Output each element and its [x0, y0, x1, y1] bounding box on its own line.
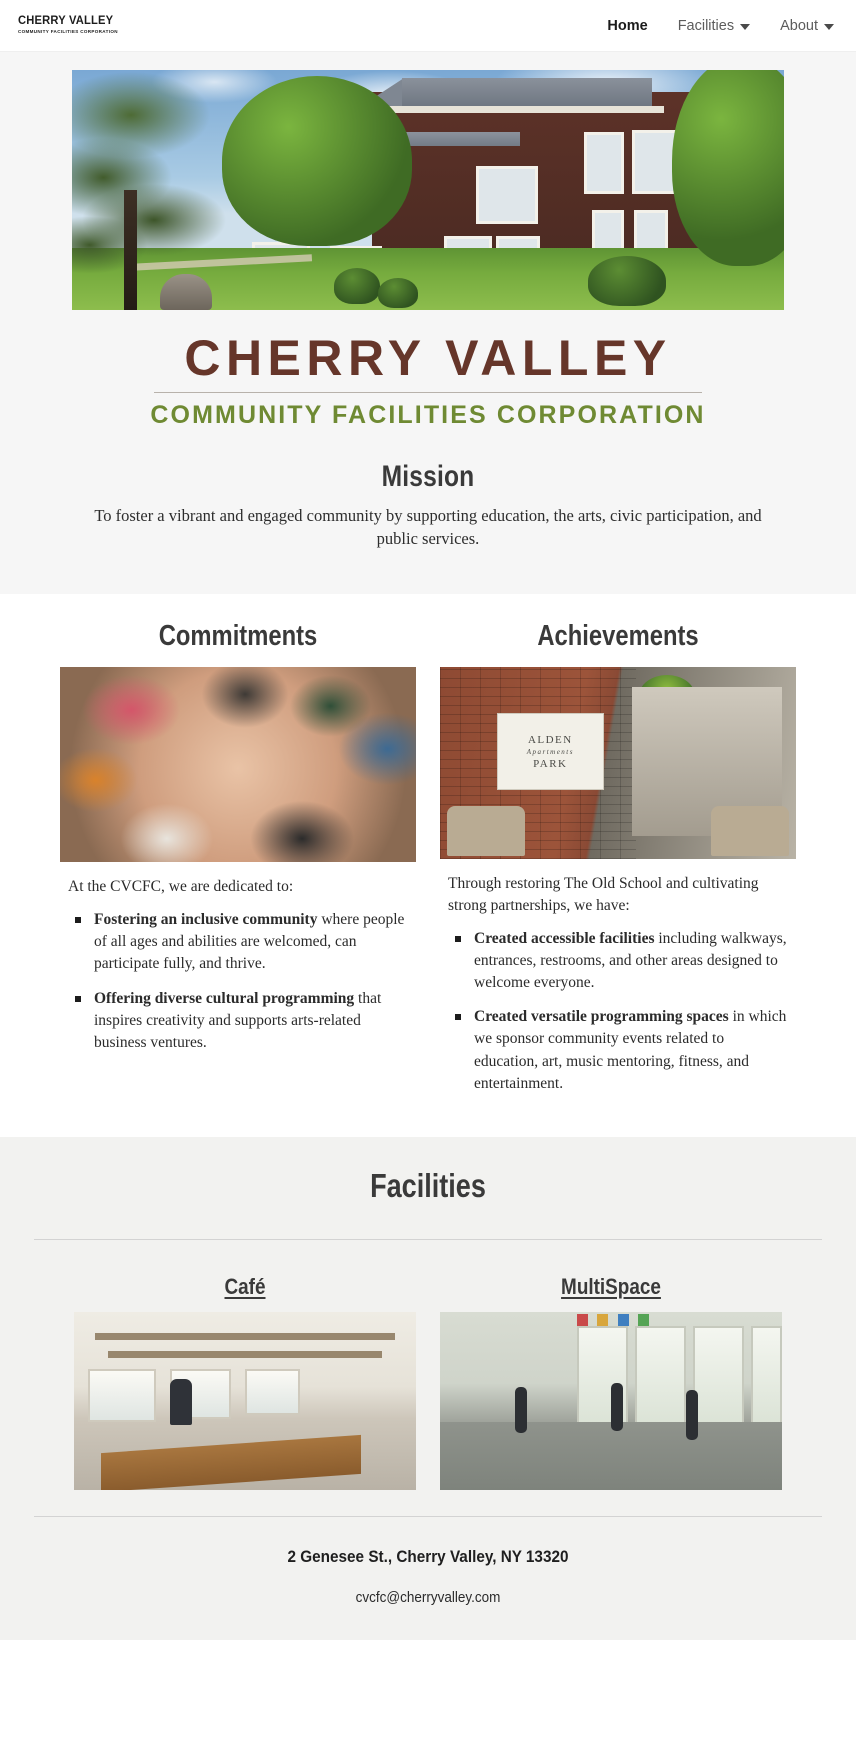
facilities-section: Facilities Café Mult	[0, 1137, 856, 1640]
list-item: Created versatile programming spaces in …	[470, 1006, 790, 1095]
primary-navigation: Home Facilities About	[607, 18, 834, 34]
list-item-bold: Fostering an inclusive community	[94, 911, 317, 928]
ceiling-beam	[95, 1333, 396, 1340]
hero-building-eave	[368, 106, 664, 113]
cafe-long-table	[101, 1434, 361, 1489]
achievements-intro: Through restoring The Old School and cul…	[448, 873, 790, 916]
site-logo[interactable]: CHERRY VALLEY COMMUNITY FACILITIES CORPO…	[18, 16, 119, 35]
pennant-flag	[618, 1314, 629, 1326]
mission-heading: Mission	[77, 460, 779, 494]
list-item: Fostering an inclusive community where p…	[90, 909, 410, 975]
commitments-heading: Commitments	[92, 620, 384, 653]
cafe-window	[245, 1369, 300, 1415]
wordmark-divider	[154, 392, 702, 393]
multispace-window	[751, 1326, 782, 1426]
list-item-bold: Created versatile programming spaces	[474, 1008, 729, 1025]
commitments-column: Commitments At the CVCFC, we are dedicat…	[60, 620, 416, 1106]
ceiling-beam	[108, 1351, 382, 1358]
nav-item-home[interactable]: Home	[607, 18, 647, 34]
commitments-intro: At the CVCFC, we are dedicated to:	[68, 876, 410, 898]
facility-card-cafe: Café	[74, 1274, 416, 1490]
list-item: Offering diverse cultural programming th…	[90, 988, 410, 1054]
multispace-window	[693, 1326, 744, 1426]
hero-tree-trunk	[124, 190, 137, 310]
site-footer: 2 Genesee St., Cherry Valley, NY 13320 c…	[0, 1490, 856, 1640]
facilities-heading: Facilities	[77, 1167, 779, 1205]
hero-image	[72, 70, 784, 310]
mission-section: Mission To foster a vibrant and engaged …	[0, 430, 856, 595]
achievements-list: Created accessible facilities including …	[448, 928, 790, 1095]
sign-line-1: ALDEN	[528, 734, 573, 746]
hero-bush	[334, 268, 380, 304]
nav-item-about-label: About	[780, 18, 818, 34]
multispace-interior-photo	[440, 1312, 782, 1490]
wordmark-title: CHERRY VALLEY	[184, 332, 671, 390]
cafe-person	[170, 1379, 192, 1425]
mission-text: To foster a vibrant and engaged communit…	[72, 504, 784, 551]
nav-item-facilities[interactable]: Facilities	[678, 18, 750, 34]
multispace-floor	[440, 1422, 782, 1490]
wordmark-subtitle: COMMUNITY FACILITIES CORPORATION	[0, 402, 856, 430]
nav-item-facilities-label: Facilities	[678, 18, 734, 34]
list-item-bold: Created accessible facilities	[474, 930, 655, 947]
facilities-divider-bottom	[34, 1516, 822, 1517]
hero-bush	[588, 256, 666, 306]
nav-item-about[interactable]: About	[780, 18, 834, 34]
achievements-column: Achievements ALDEN Apartments PARK Throu	[440, 620, 796, 1106]
site-wordmark: CHERRY VALLEY COMMUNITY FACILITIES CORPO…	[0, 310, 856, 430]
facility-link-cafe[interactable]: Café	[98, 1274, 392, 1300]
hero-stone-monument	[160, 274, 212, 310]
hero-building-roof	[402, 78, 652, 108]
pennant-flag	[638, 1314, 649, 1326]
achievements-heading: Achievements	[472, 620, 764, 653]
alden-park-photo: ALDEN Apartments PARK	[440, 667, 796, 859]
logo-primary-text: CHERRY VALLEY	[18, 16, 116, 28]
hero-tree	[672, 70, 784, 266]
lobby-chair	[447, 806, 525, 856]
chevron-down-icon	[824, 24, 834, 30]
achievements-image: ALDEN Apartments PARK	[440, 667, 796, 859]
person-exercising	[515, 1387, 527, 1433]
sign-line-2: Apartments	[527, 748, 574, 756]
pennant-flag	[597, 1314, 608, 1326]
cafe-window	[88, 1369, 156, 1422]
hero-section: CHERRY VALLEY COMMUNITY FACILITIES CORPO…	[0, 52, 856, 594]
hero-tree	[222, 76, 412, 246]
chevron-down-icon	[740, 24, 750, 30]
list-item: Created accessible facilities including …	[470, 928, 790, 994]
site-navbar: CHERRY VALLEY COMMUNITY FACILITIES CORPO…	[0, 0, 856, 52]
hero-window	[476, 166, 538, 224]
lobby-chair	[711, 806, 789, 856]
footer-address: 2 Genesee St., Cherry Valley, NY 13320	[43, 1547, 813, 1567]
person-exercising	[686, 1390, 698, 1440]
multispace-window	[635, 1326, 686, 1426]
facility-card-multispace: MultiSpace	[440, 1274, 782, 1490]
commitments-achievements-section: Commitments At the CVCFC, we are dedicat…	[0, 594, 856, 1136]
commitments-list: Fostering an inclusive community where p…	[68, 909, 410, 1054]
nav-item-home-label: Home	[607, 18, 647, 34]
list-item-bold: Offering diverse cultural programming	[94, 990, 354, 1007]
logo-secondary-text: COMMUNITY FACILITIES CORPORATION	[18, 30, 118, 35]
person-exercising	[611, 1383, 623, 1431]
hero-window	[584, 132, 624, 194]
facility-image-cafe[interactable]	[74, 1312, 416, 1490]
facility-link-multispace[interactable]: MultiSpace	[464, 1274, 758, 1300]
hero-bush	[378, 278, 418, 308]
facility-image-multispace[interactable]	[440, 1312, 782, 1490]
cafe-interior-photo	[74, 1312, 416, 1490]
hands-together-photo	[60, 667, 416, 862]
footer-email-link[interactable]: cvcfc@cherryvalley.com	[43, 1589, 813, 1606]
alden-park-sign: ALDEN Apartments PARK	[497, 713, 604, 790]
commitments-image	[60, 667, 416, 862]
sign-line-3: PARK	[533, 758, 567, 770]
pennant-flag	[577, 1314, 588, 1326]
